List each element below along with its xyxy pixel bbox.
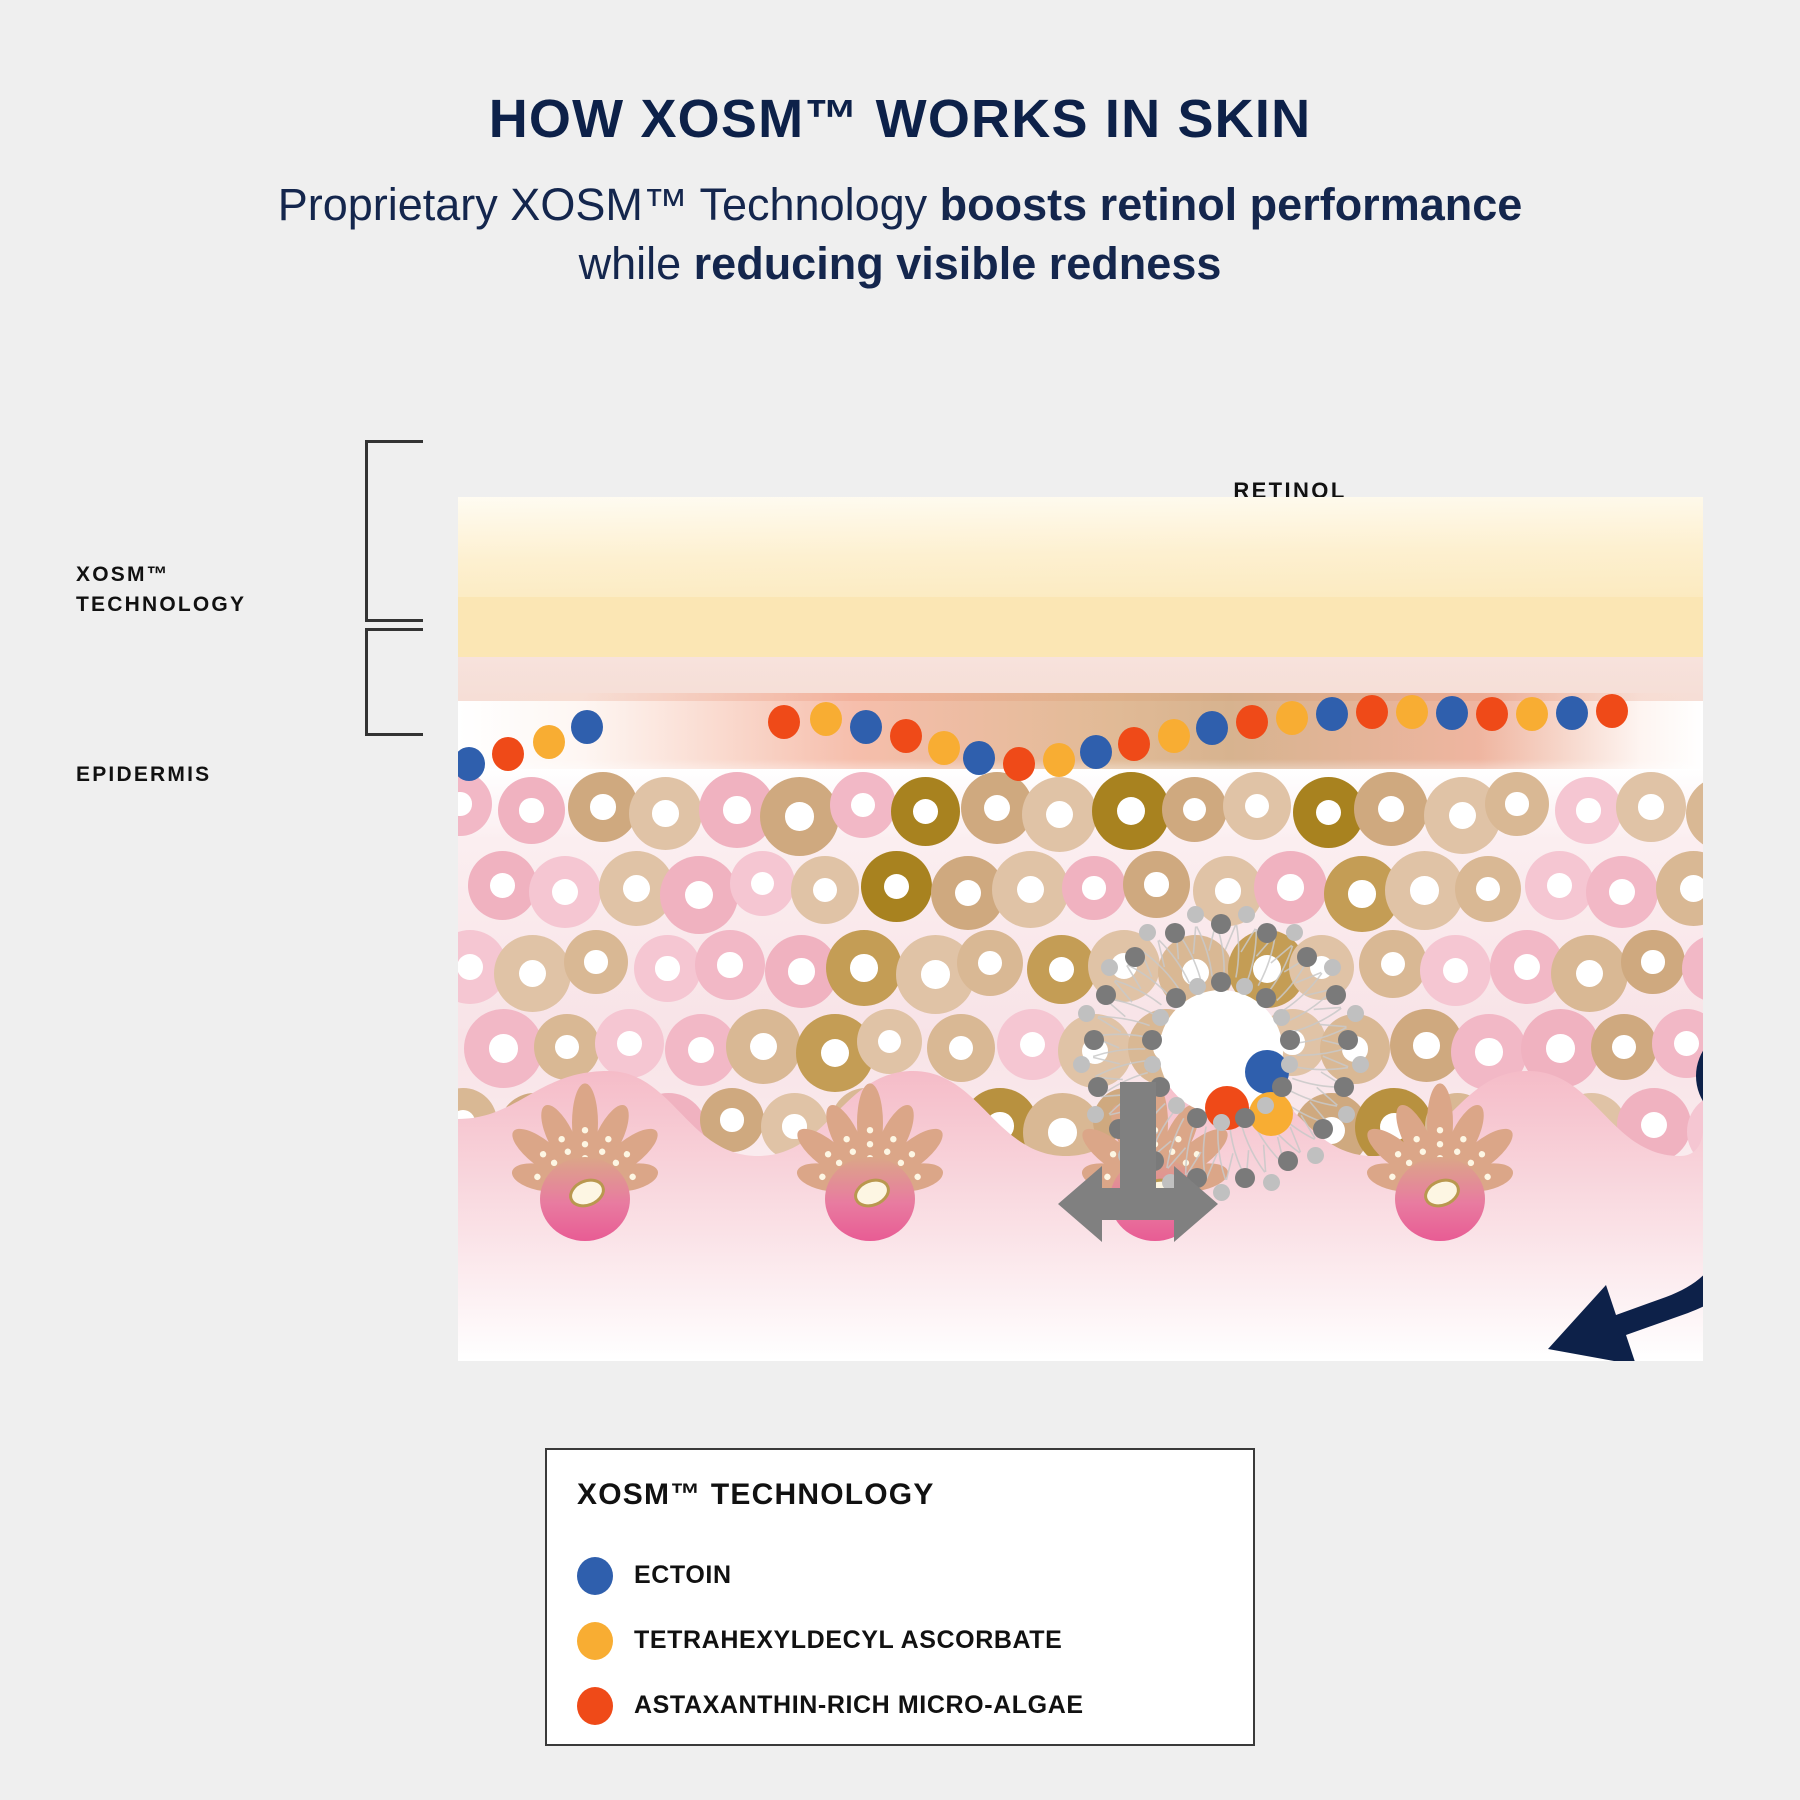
liposome-head-outer <box>1084 1030 1104 1050</box>
liposome-head-inner <box>1273 1009 1290 1026</box>
ingredient-molecule-dot <box>1596 694 1628 728</box>
ingredient-molecule-dot <box>1356 695 1388 729</box>
liposome-lipid-tail <box>1284 973 1332 1010</box>
ingredient-molecule-dot <box>1236 705 1268 739</box>
bracket-epidermis <box>365 628 423 736</box>
ingredient-molecule-dot <box>571 710 603 744</box>
ingredient-molecule-dot <box>1316 697 1348 731</box>
ingredient-molecule-dot <box>1003 747 1035 781</box>
ingredient-molecule-dot <box>1476 697 1508 731</box>
gray-split-arrow-icon <box>1018 1082 1258 1247</box>
ingredient-molecule-dot <box>1436 696 1468 730</box>
page-subtitle: Proprietary XOSM™ Technology boosts reti… <box>250 175 1550 294</box>
subtitle-bold-1: boosts retinol performance <box>940 179 1523 230</box>
ingredient-molecule-dot <box>533 725 565 759</box>
ingredient-molecule-dot <box>1556 696 1588 730</box>
liposome-head-outer <box>1101 959 1118 976</box>
bracket-xosm-technology <box>365 440 423 622</box>
liposome-head-outer <box>1334 1077 1354 1097</box>
liposome-head-outer <box>1187 906 1204 923</box>
skin-cross-section-panel <box>458 497 1703 1361</box>
label-xosm-technology: XOSM™TECHNOLOGY <box>76 560 346 621</box>
legend-dot-ascorbate <box>577 1622 613 1660</box>
liposome-lipid-tail <box>1142 941 1179 989</box>
ingredient-molecule-dot <box>492 737 524 771</box>
liposome-head-outer <box>1307 1147 1324 1164</box>
liposome-head-inner <box>1211 972 1231 992</box>
legend-title: XOSM™ TECHNOLOGY <box>577 1478 935 1512</box>
ingredient-molecule-dot <box>850 710 882 744</box>
ingredient-molecule-dot <box>928 731 960 765</box>
liposome-lipid-tail <box>1294 1008 1346 1031</box>
ingredient-molecule-dot <box>1196 711 1228 745</box>
ingredient-molecule-dot <box>1118 727 1150 761</box>
liposome-head-outer <box>1263 1174 1280 1191</box>
ingredient-molecule-dot <box>1043 743 1075 777</box>
dermal-papilla <box>506 1083 665 1241</box>
subtitle-part-1: Proprietary XOSM™ Technology <box>278 179 940 230</box>
liposome-head-outer <box>1238 906 1255 923</box>
infographic-canvas: HOW XOSM™ WORKS IN SKIN Proprietary XOSM… <box>0 0 1800 1800</box>
legend-dot-ectoin <box>577 1557 613 1595</box>
dermal-papilla <box>791 1083 950 1241</box>
ingredient-molecule-dot <box>1276 701 1308 735</box>
navy-split-arrow-icon <box>1508 1117 1703 1361</box>
legend-label-astaxanthin: ASTAXANTHIN-RICH MICRO-ALGAE <box>634 1691 1084 1720</box>
legend-label-ectoin: ECTOIN <box>634 1561 732 1590</box>
ingredient-molecule-dot <box>1516 697 1548 731</box>
liposome-lipid-tail <box>1197 924 1216 976</box>
ingredient-molecule-dot <box>890 719 922 753</box>
liposome-head-inner <box>1281 1056 1298 1073</box>
legend-box: XOSM™ TECHNOLOGY ECTOIN TETRAHEXYLDECYL … <box>545 1448 1255 1746</box>
dermal-papilla <box>1361 1083 1520 1241</box>
ingredient-molecule-dot <box>1396 695 1428 729</box>
liposome-head-outer <box>1257 923 1277 943</box>
liposome-lipid-tail <box>1093 1057 1145 1076</box>
liposome-lipid-tail <box>1297 1048 1349 1067</box>
liposome-head-outer <box>1211 914 1231 934</box>
ingredient-molecule-dot <box>963 741 995 775</box>
ingredient-molecule-dot <box>768 705 800 739</box>
liposome-head-outer <box>1165 923 1185 943</box>
liposome-head-inner <box>1142 1030 1162 1050</box>
legend-dot-astaxanthin <box>577 1687 613 1725</box>
liposome-head-outer <box>1338 1106 1355 1123</box>
liposome-head-inner <box>1189 978 1206 995</box>
subtitle-part-2: while <box>579 238 694 289</box>
ingredient-molecule-dot <box>1158 719 1190 753</box>
liposome-head-inner <box>1272 1077 1292 1097</box>
liposome-head-inner <box>1144 1056 1161 1073</box>
liposome-head-outer <box>1326 985 1346 1005</box>
liposome-lipid-tail <box>1236 925 1256 978</box>
label-epidermis: EPIDERMIS <box>76 760 346 790</box>
ingredient-molecule-dot <box>810 702 842 736</box>
liposome-lipid-tail <box>1277 958 1322 1000</box>
ingredient-molecule-dot <box>1080 735 1112 769</box>
page-title: HOW XOSM™ WORKS IN SKIN <box>0 88 1800 150</box>
liposome-head-outer <box>1078 1005 1095 1022</box>
subtitle-bold-2: reducing visible redness <box>694 238 1222 289</box>
legend-label-ascorbate: TETRAHEXYLDECYL ASCORBATE <box>634 1626 1062 1655</box>
liposome-head-inner <box>1152 1009 1169 1026</box>
liposome-head-inner <box>1280 1030 1300 1050</box>
